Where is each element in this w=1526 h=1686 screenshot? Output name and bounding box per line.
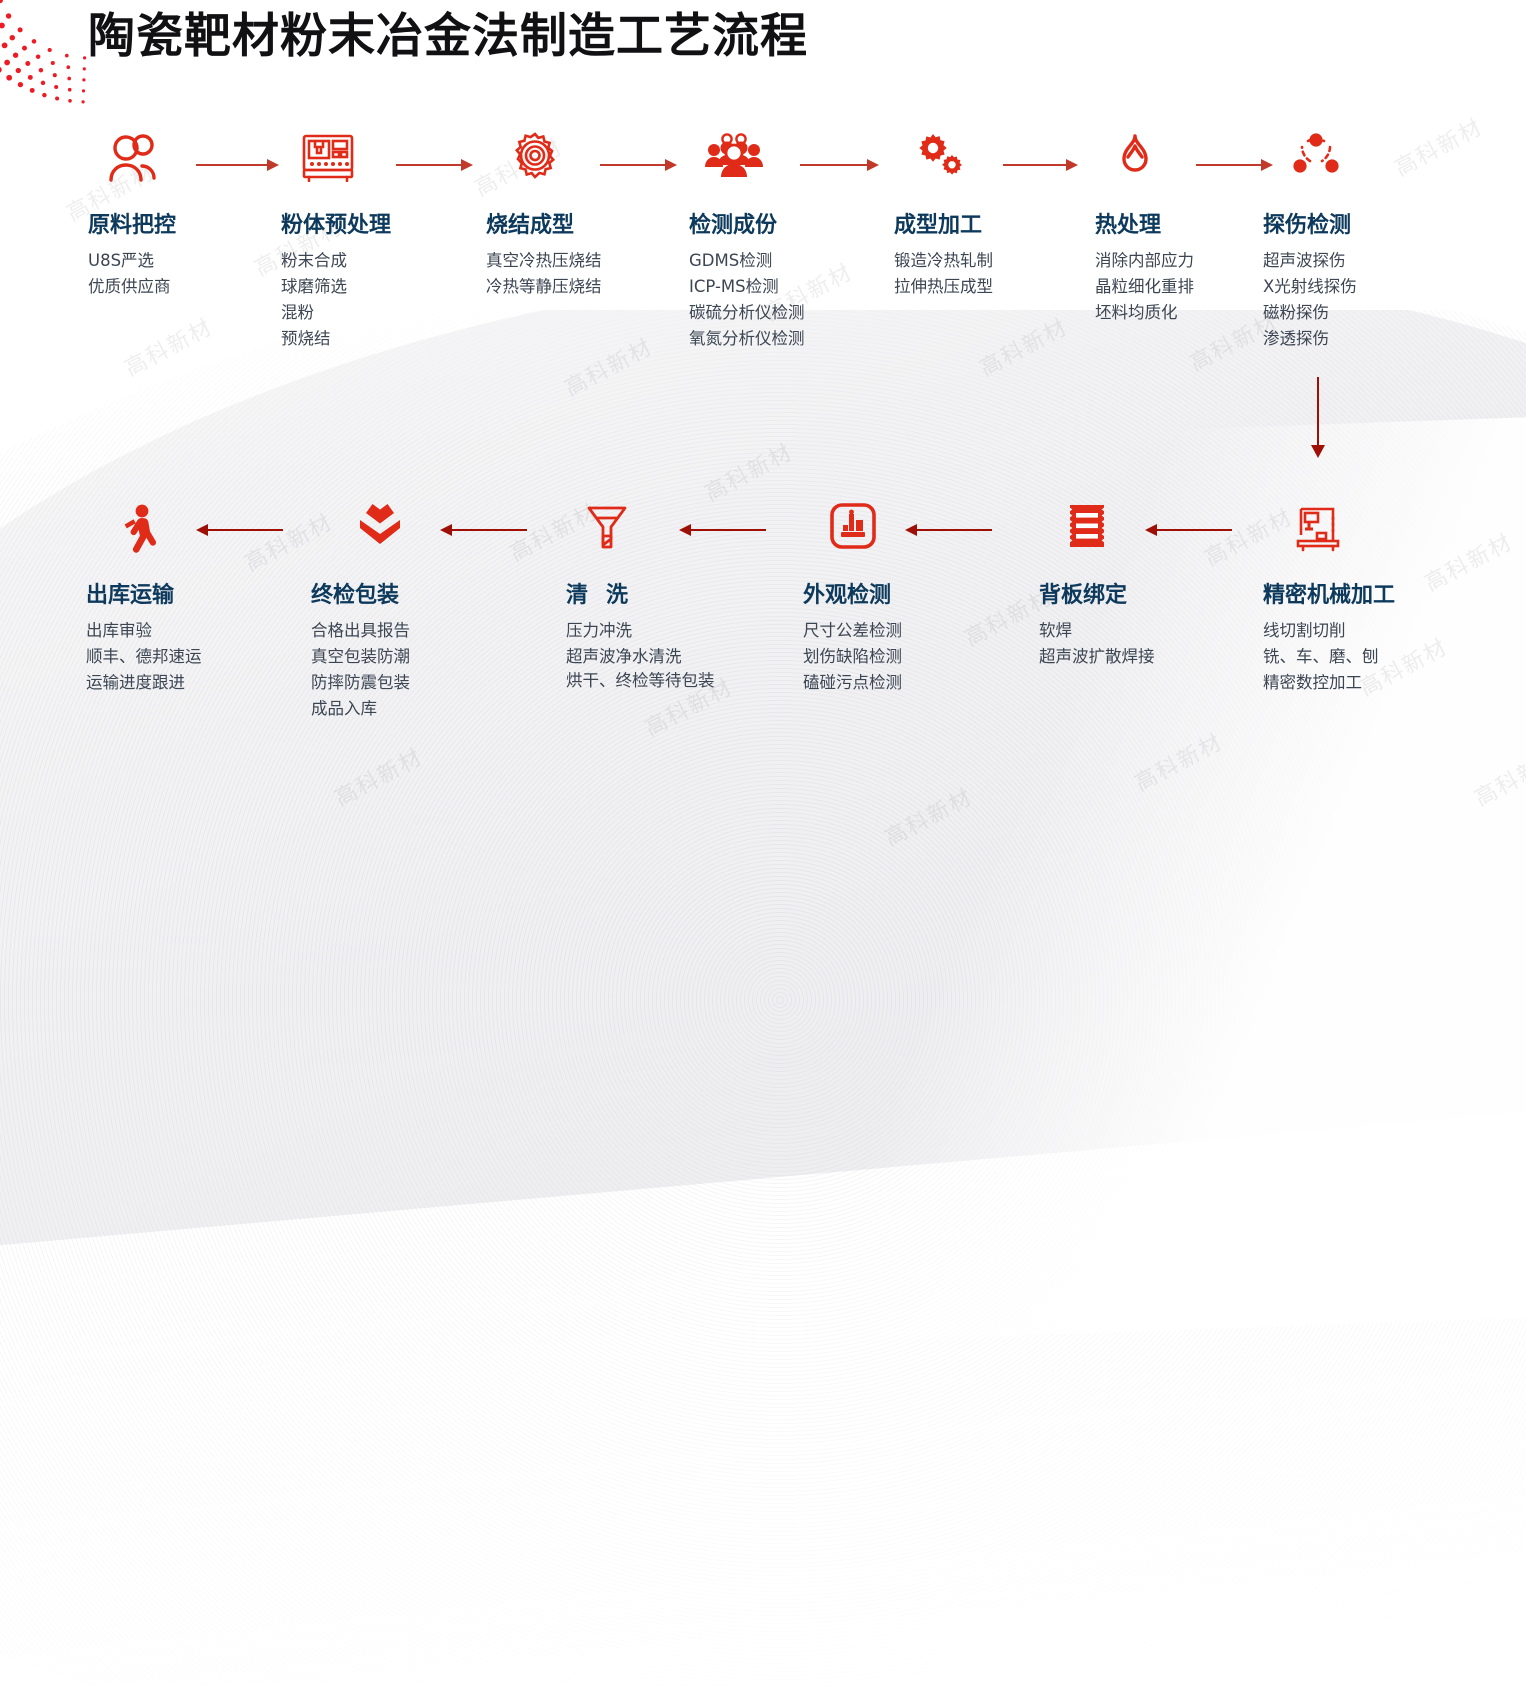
cnc-machine-icon bbox=[1295, 503, 1343, 558]
step-detail-list: 线切割切削铣、车、磨、刨精密数控加工 bbox=[1263, 618, 1395, 696]
step-title: 外观检测 bbox=[803, 577, 902, 609]
step-detail-list: 消除内部应力晶粒细化重排坯料均质化 bbox=[1095, 248, 1194, 326]
step-title: 成型加工 bbox=[894, 207, 993, 239]
open-box-icon bbox=[352, 503, 408, 554]
step-detail-line: X光射线探伤 bbox=[1263, 274, 1357, 300]
background-decoration bbox=[0, 0, 1526, 843]
step-detail-list: 超声波探伤X光射线探伤磁粉探伤渗透探伤 bbox=[1263, 248, 1357, 352]
step-detail-line: 消除内部应力 bbox=[1095, 248, 1194, 274]
step-title: 原料把控 bbox=[88, 207, 176, 239]
step-detail-line: 出库审验 bbox=[86, 618, 202, 644]
process-step-终检包装[interactable]: 终检包装合格出具报告真空包装防潮防摔防震包装成品入库 bbox=[311, 566, 410, 722]
step-detail-list: 压力冲洗超声波净水清洗烘干、终检等待包装 bbox=[566, 618, 716, 692]
two-people-icon bbox=[108, 132, 166, 187]
step-detail-line: 磕碰污点检测 bbox=[803, 670, 902, 696]
step-detail-line: 粉末合成 bbox=[281, 248, 391, 274]
funnel-icon bbox=[585, 503, 629, 558]
step-detail-line: 预烧结 bbox=[281, 326, 391, 352]
process-step-外观检测[interactable]: 外观检测尺寸公差检测划伤缺陷检测磕碰污点检测 bbox=[803, 566, 902, 696]
step-detail-line: 超声波净水清洗 bbox=[566, 644, 716, 670]
step-detail-list: 出库审验顺丰、德邦速运运输进度跟进 bbox=[86, 618, 202, 696]
page-title: 陶瓷靶材粉末冶金法制造工艺流程 bbox=[88, 6, 808, 68]
process-step-原料把控[interactable]: 原料把控U8S严选优质供应商 bbox=[88, 196, 176, 300]
step-detail-line: 坯料均质化 bbox=[1095, 300, 1194, 326]
process-step-成型加工[interactable]: 成型加工锻造冷热轧制拉伸热压成型 bbox=[894, 196, 993, 300]
flow-arrow-right-6 bbox=[1196, 158, 1272, 172]
step-detail-line: 锻造冷热轧制 bbox=[894, 248, 993, 274]
step-detail-list: 真空冷热压烧结冷热等静压烧结 bbox=[486, 248, 602, 300]
step-detail-line: ICP-MS检测 bbox=[689, 274, 805, 300]
step-detail-line: 冷热等静压烧结 bbox=[486, 274, 602, 300]
background-arc-lines bbox=[0, 118, 1526, 1686]
flow-arrow-left-3 bbox=[680, 523, 766, 537]
flow-arrow-right-2 bbox=[396, 158, 472, 172]
step-title: 精密机械加工 bbox=[1263, 577, 1395, 609]
step-detail-line: GDMS检测 bbox=[689, 248, 805, 274]
flow-arrow-left-2 bbox=[441, 523, 527, 537]
step-detail-line: 成品入库 bbox=[311, 696, 410, 722]
process-step-检测成份[interactable]: 检测成份GDMS检测ICP-MS检测碳硫分析仪检测氧氮分析仪检测 bbox=[689, 196, 805, 352]
step-title: 背板绑定 bbox=[1039, 577, 1155, 609]
flow-arrow-left-1 bbox=[197, 523, 283, 537]
step-detail-line: 顺丰、德邦速运 bbox=[86, 644, 202, 670]
watermark-text: 高科新材 bbox=[1418, 524, 1518, 597]
step-detail-line: 碳硫分析仪检测 bbox=[689, 300, 805, 326]
step-title: 热处理 bbox=[1095, 207, 1194, 239]
flow-arrow-right-4 bbox=[800, 158, 878, 172]
flow-arrow-right-5 bbox=[1003, 158, 1077, 172]
watermark-text: 高科新材 bbox=[973, 309, 1073, 382]
watermark-text: 高科新材 bbox=[328, 739, 428, 812]
step-detail-list: 尺寸公差检测划伤缺陷检测磕碰污点检测 bbox=[803, 618, 902, 696]
powder-machine-icon bbox=[300, 132, 356, 187]
step-detail-line: 划伤缺陷检测 bbox=[803, 644, 902, 670]
process-step-探伤检测[interactable]: 探伤检测超声波探伤X光射线探伤磁粉探伤渗透探伤 bbox=[1263, 196, 1357, 352]
people-group-icon bbox=[705, 132, 763, 187]
step-title: 清洗 bbox=[566, 577, 716, 609]
background-white-sweep bbox=[405, 404, 1526, 1356]
step-detail-line: 氧氮分析仪检测 bbox=[689, 326, 805, 352]
gear-target-icon bbox=[508, 132, 562, 189]
step-detail-line: 尺寸公差检测 bbox=[803, 618, 902, 644]
step-detail-line: 晶粒细化重排 bbox=[1095, 274, 1194, 300]
step-detail-list: 软焊超声波扩散焊接 bbox=[1039, 618, 1155, 670]
inspection-app-icon bbox=[830, 503, 876, 554]
process-step-背板绑定[interactable]: 背板绑定软焊超声波扩散焊接 bbox=[1039, 566, 1155, 670]
step-detail-line: 合格出具报告 bbox=[311, 618, 410, 644]
step-detail-list: U8S严选优质供应商 bbox=[88, 248, 176, 300]
watermark-text: 高科新材 bbox=[1128, 724, 1228, 797]
step-title: 探伤检测 bbox=[1263, 207, 1357, 239]
flow-arrow-down bbox=[1311, 377, 1325, 457]
step-detail-line: 渗透探伤 bbox=[1263, 326, 1357, 352]
step-detail-line: 超声波探伤 bbox=[1263, 248, 1357, 274]
step-title: 烧结成型 bbox=[486, 207, 602, 239]
watermark-text: 高科新材 bbox=[698, 434, 798, 507]
step-detail-list: GDMS检测ICP-MS检测碳硫分析仪检测氧氮分析仪检测 bbox=[689, 248, 805, 352]
process-step-清 洗[interactable]: 清洗压力冲洗超声波净水清洗烘干、终检等待包装 bbox=[566, 566, 716, 692]
gears-icon bbox=[913, 132, 965, 183]
step-detail-line: 软焊 bbox=[1039, 618, 1155, 644]
flow-arrow-left-4 bbox=[906, 523, 992, 537]
step-detail-line: 防摔防震包装 bbox=[311, 670, 410, 696]
step-detail-line: 混粉 bbox=[281, 300, 391, 326]
step-title: 检测成份 bbox=[689, 207, 805, 239]
three-dot-triangle-icon bbox=[1290, 132, 1342, 185]
flow-arrow-right-3 bbox=[600, 158, 676, 172]
process-step-粉体预处理[interactable]: 粉体预处理粉末合成球磨筛选混粉预烧结 bbox=[281, 196, 391, 352]
flow-arrow-right-1 bbox=[196, 158, 278, 172]
step-detail-line: 精密数控加工 bbox=[1263, 670, 1395, 696]
step-detail-line: U8S严选 bbox=[88, 248, 176, 274]
flame-icon bbox=[1110, 132, 1160, 187]
step-detail-line: 线切割切削 bbox=[1263, 618, 1395, 644]
process-step-烧结成型[interactable]: 烧结成型真空冷热压烧结冷热等静压烧结 bbox=[486, 196, 602, 300]
step-detail-line: 优质供应商 bbox=[88, 274, 176, 300]
watermark-text: 高科新材 bbox=[1468, 739, 1526, 812]
step-detail-line: 真空包装防潮 bbox=[311, 644, 410, 670]
step-title: 出库运输 bbox=[86, 577, 202, 609]
step-detail-list: 锻造冷热轧制拉伸热压成型 bbox=[894, 248, 993, 300]
step-detail-line: 拉伸热压成型 bbox=[894, 274, 993, 300]
step-detail-line: 真空冷热压烧结 bbox=[486, 248, 602, 274]
step-title: 终检包装 bbox=[311, 577, 410, 609]
step-detail-line: 球磨筛选 bbox=[281, 274, 391, 300]
walking-person-icon bbox=[118, 503, 162, 560]
step-detail-line: 压力冲洗 bbox=[566, 618, 716, 644]
watermark-text: 高科新材 bbox=[558, 329, 658, 402]
step-detail-line: 超声波扩散焊接 bbox=[1039, 644, 1155, 670]
step-detail-line: 铣、车、磨、刨 bbox=[1263, 644, 1395, 670]
step-detail-list: 粉末合成球磨筛选混粉预烧结 bbox=[281, 248, 391, 352]
process-step-出库运输[interactable]: 出库运输出库审验顺丰、德邦速运运输进度跟进 bbox=[86, 566, 202, 696]
infographic-canvas: 高科新材高科新材高科新材高科新材高科新材高科新材高科新材高科新材高科新材高科新材… bbox=[0, 0, 1526, 843]
process-step-热处理[interactable]: 热处理消除内部应力晶粒细化重排坯料均质化 bbox=[1095, 196, 1194, 326]
watermark-text: 高科新材 bbox=[878, 779, 978, 852]
step-detail-line: 运输进度跟进 bbox=[86, 670, 202, 696]
watermark-text: 高科新材 bbox=[118, 309, 218, 382]
step-detail-list: 合格出具报告真空包装防潮防摔防震包装成品入库 bbox=[311, 618, 410, 722]
step-detail-line: 磁粉探伤 bbox=[1263, 300, 1357, 326]
step-detail-line: 烘干、终检等待包装 bbox=[566, 670, 716, 692]
watermark-text: 高科新材 bbox=[1388, 109, 1488, 182]
step-title: 粉体预处理 bbox=[281, 207, 391, 239]
backing-plate-icon bbox=[1065, 503, 1109, 558]
process-step-精密机械加工[interactable]: 精密机械加工线切割切削铣、车、磨、刨精密数控加工 bbox=[1263, 566, 1395, 696]
flow-arrow-left-5 bbox=[1146, 523, 1232, 537]
